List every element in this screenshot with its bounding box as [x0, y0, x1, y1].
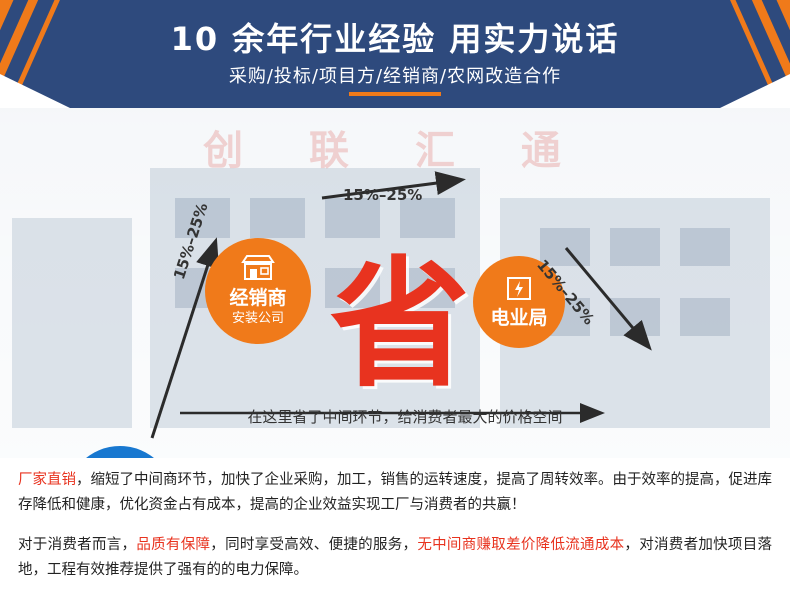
paragraph-2: 对于消费者而言，品质有保障，同时享受高效、便捷的服务，无中间商赚取差价降低流通成… [18, 533, 772, 584]
arrow-label-dealer-to-power: 15%–25% [343, 186, 422, 204]
node-dealer[interactable]: 经销商 安装公司 [205, 238, 311, 344]
center-emphasis-character: 省 [330, 256, 470, 396]
paragraph-2-highlight-2: 无中间商赚取差价降低流通成本 [417, 537, 624, 553]
header-title: 10 余年行业经验 用实力说话 [0, 14, 790, 60]
paragraph-1-body: ，缩短了中间商环节，加快了企业采购，加工，销售的运转速度，提高了周转效率。由于效… [18, 472, 772, 513]
paragraph-2-seg1: 对于消费者而言， [18, 537, 136, 553]
node-power-bureau-label: 电业局 [490, 308, 547, 330]
paragraph-2-seg3: ，同时享受高效、便捷的服务， [210, 537, 417, 553]
node-dealer-label: 经销商 [229, 288, 286, 310]
building-icon [505, 275, 533, 305]
header-banner: 10 余年行业经验 用实力说话 采购/投标/项目方/经销商/农网改造合作 [0, 0, 790, 108]
center-note: 在这里省了中间环节，给消费者最大的价格空间 [195, 406, 615, 427]
bottom-description: 厂家直销，缩短了中间商环节，加快了企业采购，加工，销售的运转速度，提高了周转效率… [0, 458, 790, 602]
node-dealer-sublabel: 安装公司 [232, 311, 284, 327]
page-root: 10 余年行业经验 用实力说话 采购/投标/项目方/经销商/农网改造合作 创 联… [0, 0, 790, 602]
paragraph-1-highlight: 厂家直销 [18, 472, 76, 488]
header-subtitle: 采购/投标/项目方/经销商/农网改造合作 [0, 62, 790, 88]
shop-icon [241, 255, 275, 285]
header-underline [349, 92, 441, 96]
paragraph-1: 厂家直销，缩短了中间商环节，加快了企业采购，加工，销售的运转速度，提高了周转效率… [18, 468, 772, 519]
diagram-area: 创 联 汇 通 省 [0, 108, 790, 458]
paragraph-2-highlight-1: 品质有保障 [136, 537, 210, 553]
